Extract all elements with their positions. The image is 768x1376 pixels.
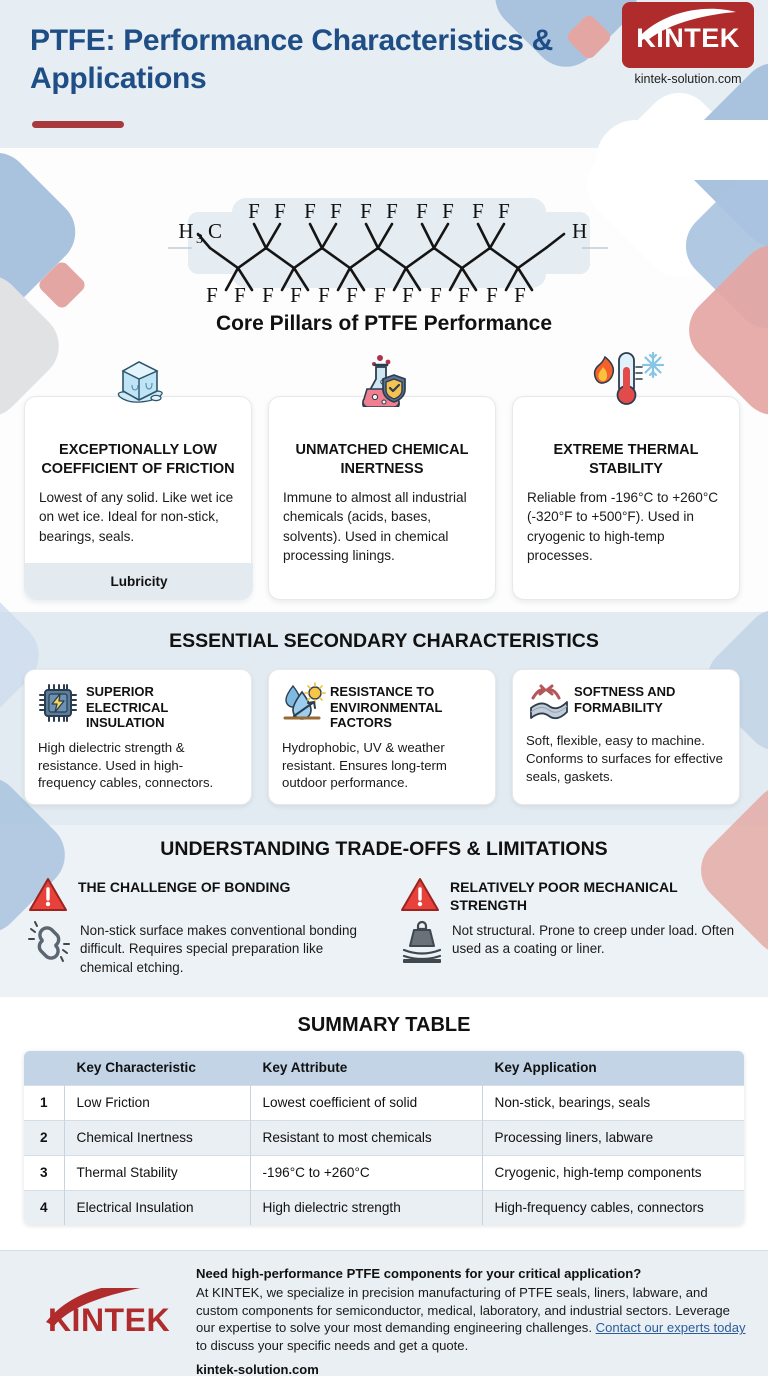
table-col-attribute: Key Attribute [250, 1051, 482, 1085]
pillar-desc: Lowest of any solid. Like wet ice on wet… [39, 488, 237, 546]
svg-text:F: F [262, 283, 274, 306]
svg-text:F: F [458, 283, 470, 306]
svg-text:F: F [430, 283, 442, 306]
svg-text:F: F [318, 283, 330, 306]
ice-cube-icon [25, 353, 253, 407]
pillar-badge: Lubricity [25, 563, 253, 599]
logo-wordmark: KINTEK [636, 23, 740, 54]
pillar-card-inertness[interactable]: UNMATCHED CHEMICAL INERTNESS Immune to a… [268, 396, 496, 600]
row-index: 3 [24, 1155, 64, 1190]
secondary-card-desc: High dielectric strength & resistance. U… [38, 739, 238, 792]
table-row: 2 Chemical Inertness Resistant to most c… [24, 1120, 744, 1155]
secondary-card-title: SUPERIOR ELECTRICAL INSULATION [86, 682, 238, 731]
row-index: 4 [24, 1190, 64, 1225]
svg-text:F: F [386, 199, 398, 223]
tradeoff-desc: Non-stick surface makes conventional bon… [80, 920, 368, 977]
secondary-heading: ESSENTIAL SECONDARY CHARACTERISTICS [0, 630, 768, 653]
summary-heading: SUMMARY TABLE [0, 1014, 768, 1037]
svg-text:F: F [234, 283, 246, 306]
table-col-index [24, 1051, 64, 1085]
summary-table: Key Characteristic Key Attribute Key App… [24, 1051, 744, 1225]
kintek-logo[interactable]: KINTEK [622, 2, 754, 68]
flask-shield-icon [269, 353, 497, 407]
footer-text-after: to discuss your specific needs and get a… [196, 1338, 468, 1353]
tradeoff-item-bonding: THE CHALLENGE OF BONDING Non-stick surfa… [28, 876, 368, 977]
row-attribute: -196°C to +260°C [250, 1155, 482, 1190]
svg-text:H: H [572, 219, 587, 243]
svg-text:F: F [472, 199, 484, 223]
warning-triangle-icon [28, 876, 68, 914]
row-application: Cryogenic, high-temp components [482, 1155, 744, 1190]
row-index: 1 [24, 1085, 64, 1120]
pillar-title: EXCEPTIONALLY LOW COEFFICIENT OF FRICTIO… [37, 441, 239, 478]
tradeoff-desc: Not structural. Prone to creep under loa… [452, 920, 740, 959]
tradeoff-item-mechanical: RELATIVELY POOR MECHANICAL STRENGTH Not … [400, 876, 740, 966]
svg-text:F: F [374, 283, 386, 306]
footer-paragraph: At KINTEK, we specialize in precision ma… [196, 1284, 752, 1355]
row-attribute: Resistant to most chemicals [250, 1120, 482, 1155]
row-characteristic: Electrical Insulation [64, 1190, 250, 1225]
table-col-characteristic: Key Characteristic [64, 1051, 250, 1085]
footer-body: Need high-performance PTFE components fo… [196, 1266, 752, 1376]
row-application: High-frequency cables, connectors [482, 1190, 744, 1225]
table-col-application: Key Application [482, 1051, 744, 1085]
secondary-card-desc: Soft, flexible, easy to machine. Conform… [526, 732, 726, 785]
secondary-card-title: SOFTNESS AND FORMABILITY [574, 682, 726, 715]
table-row: 3 Thermal Stability -196°C to +260°C Cry… [24, 1155, 744, 1190]
svg-text:F: F [442, 199, 454, 223]
secondary-card-environmental[interactable]: RESISTANCE TO ENVIRONMENTAL FACTORS Hydr… [268, 669, 496, 805]
secondary-card-electrical[interactable]: SUPERIOR ELECTRICAL INSULATION High diel… [24, 669, 252, 805]
row-attribute: Lowest coefficient of solid [250, 1085, 482, 1120]
tradeoff-title: RELATIVELY POOR MECHANICAL STRENGTH [450, 876, 740, 914]
flexible-sheet-icon [526, 682, 566, 724]
warning-triangle-icon [400, 876, 440, 914]
title-underline [32, 121, 124, 128]
pillar-title: UNMATCHED CHEMICAL INERTNESS [281, 441, 483, 478]
row-characteristic: Thermal Stability [64, 1155, 250, 1190]
svg-text:F: F [248, 199, 260, 223]
table-row: 4 Electrical Insulation High dielectric … [24, 1190, 744, 1225]
footer-logo[interactable]: KINTEK [24, 1288, 194, 1344]
row-characteristic: Chemical Inertness [64, 1120, 250, 1155]
secondary-card-desc: Hydrophobic, UV & weather resistant. Ens… [282, 739, 482, 792]
pillar-title: EXTREME THERMAL STABILITY [525, 441, 727, 478]
fire-thermometer-snowflake-icon [513, 353, 741, 407]
row-application: Non-stick, bearings, seals [482, 1085, 744, 1120]
infographic-page: PTFE: Performance Characteristics & Appl… [0, 0, 768, 1376]
svg-text:F: F [290, 283, 302, 306]
tradeoff-heading: UNDERSTANDING TRADE-OFFS & LIMITATIONS [0, 838, 768, 861]
pillar-desc: Reliable from -196°C to +260°C (-320°F t… [527, 488, 725, 565]
svg-text:3: 3 [196, 232, 203, 247]
pillar-card-thermal[interactable]: EXTREME THERMAL STABILITY Reliable from … [512, 396, 740, 600]
svg-text:F: F [360, 199, 372, 223]
molecule-caption: Core Pillars of PTFE Performance [0, 312, 768, 336]
svg-text:F: F [514, 283, 526, 306]
footer-question: Need high-performance PTFE components fo… [196, 1266, 752, 1281]
pillar-card-friction[interactable]: EXCEPTIONALLY LOW COEFFICIENT OF FRICTIO… [24, 396, 252, 600]
footer-url: kintek-solution.com [196, 1362, 752, 1376]
svg-text:F: F [486, 283, 498, 306]
svg-text:F: F [304, 199, 316, 223]
svg-text:C: C [208, 219, 222, 243]
svg-text:F: F [330, 199, 342, 223]
svg-text:F: F [206, 283, 218, 306]
tradeoff-title: THE CHALLENGE OF BONDING [78, 876, 290, 897]
row-characteristic: Low Friction [64, 1085, 250, 1120]
svg-text:H: H [178, 219, 193, 243]
secondary-card-title: RESISTANCE TO ENVIRONMENTAL FACTORS [330, 682, 482, 731]
svg-text:F: F [416, 199, 428, 223]
table-header-row: Key Characteristic Key Attribute Key App… [24, 1051, 744, 1085]
svg-text:F: F [346, 283, 358, 306]
secondary-card-softness[interactable]: SOFTNESS AND FORMABILITY Soft, flexible,… [512, 669, 740, 805]
row-attribute: High dielectric strength [250, 1190, 482, 1225]
water-drop-sun-icon [282, 682, 322, 724]
table-row: 1 Low Friction Lowest coefficient of sol… [24, 1085, 744, 1120]
logo-url: kintek-solution.com [622, 72, 754, 86]
microchip-icon [38, 682, 78, 724]
row-index: 2 [24, 1120, 64, 1155]
svg-text:F: F [498, 199, 510, 223]
svg-text:F: F [274, 199, 286, 223]
contact-experts-link[interactable]: Contact our experts today [596, 1320, 746, 1335]
page-title: PTFE: Performance Characteristics & Appl… [30, 22, 630, 98]
weight-deform-icon [400, 920, 442, 966]
broken-chain-icon [28, 920, 70, 966]
svg-text:F: F [402, 283, 414, 306]
ptfe-molecule-diagram: FF FF FF FF FF FF FF FF FF FF FF H 3 C H [168, 186, 608, 306]
row-application: Processing liners, labware [482, 1120, 744, 1155]
footer-logo-wordmark: KINTEK [24, 1302, 194, 1339]
pillar-desc: Immune to almost all industrial chemical… [283, 488, 481, 565]
